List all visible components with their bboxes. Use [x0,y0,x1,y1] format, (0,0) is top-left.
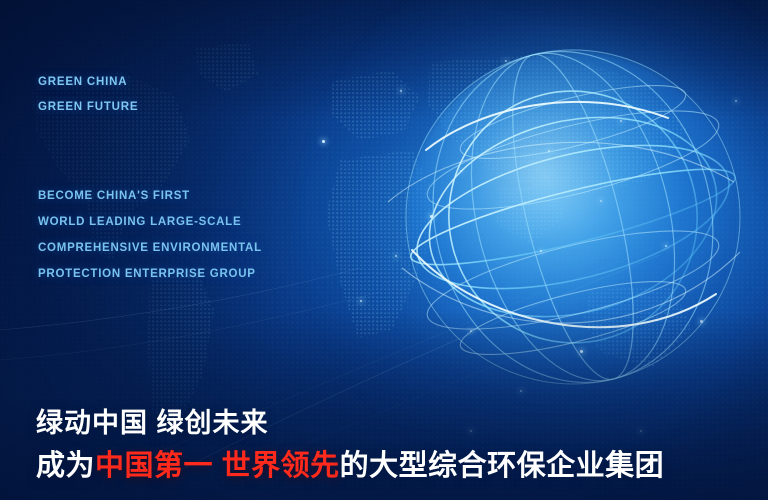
english-tagline: GREEN CHINA GREEN FUTURE [38,70,138,120]
chinese-subline: 成为中国第一 世界领先的大型综合环保企业集团 [36,442,664,484]
english-statement-line2: WORLD LEADING LARGE-SCALE [38,209,262,235]
english-statement: BECOME CHINA'S FIRST WORLD LEADING LARGE… [38,183,262,287]
subline-highlight: 中国第一 世界领先 [95,450,340,482]
banner-image: GREEN CHINA GREEN FUTURE BECOME CHINA'S … [0,0,768,500]
english-tagline-line1: GREEN CHINA [38,70,138,95]
subline-suffix: 的大型综合环保企业集团 [340,450,665,482]
chinese-headline: 绿动中国 绿创未来 [36,401,269,440]
english-statement-line4: PROTECTION ENTERPRISE GROUP [38,261,262,287]
english-tagline-line2: GREEN FUTURE [38,95,138,120]
subline-prefix: 成为 [36,450,95,482]
english-statement-line3: COMPREHENSIVE ENVIRONMENTAL [38,235,262,261]
english-statement-line1: BECOME CHINA'S FIRST [38,183,262,209]
